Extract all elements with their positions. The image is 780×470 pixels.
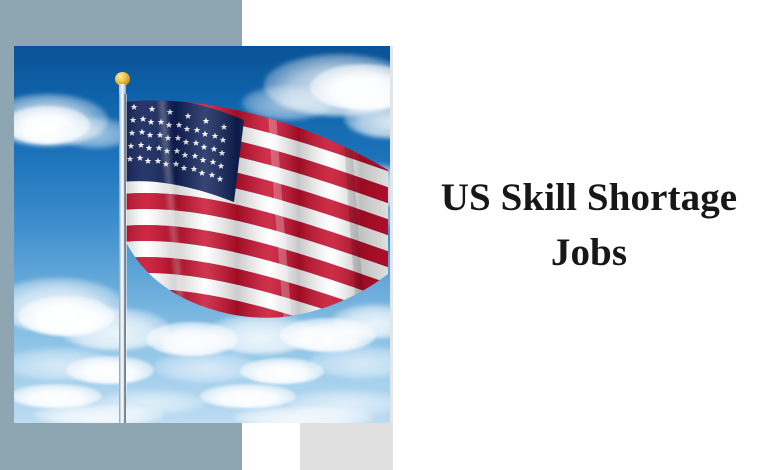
page-title-line-2: Jobs bbox=[551, 231, 627, 274]
bottom-grey-block bbox=[300, 423, 393, 470]
cloud bbox=[66, 356, 154, 384]
flagpole-halyard bbox=[126, 94, 127, 394]
page-title-line-1: US Skill Shortage bbox=[441, 176, 737, 219]
left-accent-strip bbox=[0, 46, 14, 439]
page-title: US Skill Shortage Jobs bbox=[400, 170, 778, 281]
poster-canvas: US Skill Shortage Jobs bbox=[0, 0, 780, 470]
bottom-left-accent-block bbox=[0, 423, 242, 470]
cloud bbox=[200, 384, 296, 408]
flagpole-neck bbox=[119, 84, 126, 94]
flag-photo bbox=[14, 46, 390, 423]
cloud bbox=[234, 406, 374, 423]
us-flag-icon bbox=[122, 98, 390, 348]
cloud bbox=[34, 404, 164, 423]
